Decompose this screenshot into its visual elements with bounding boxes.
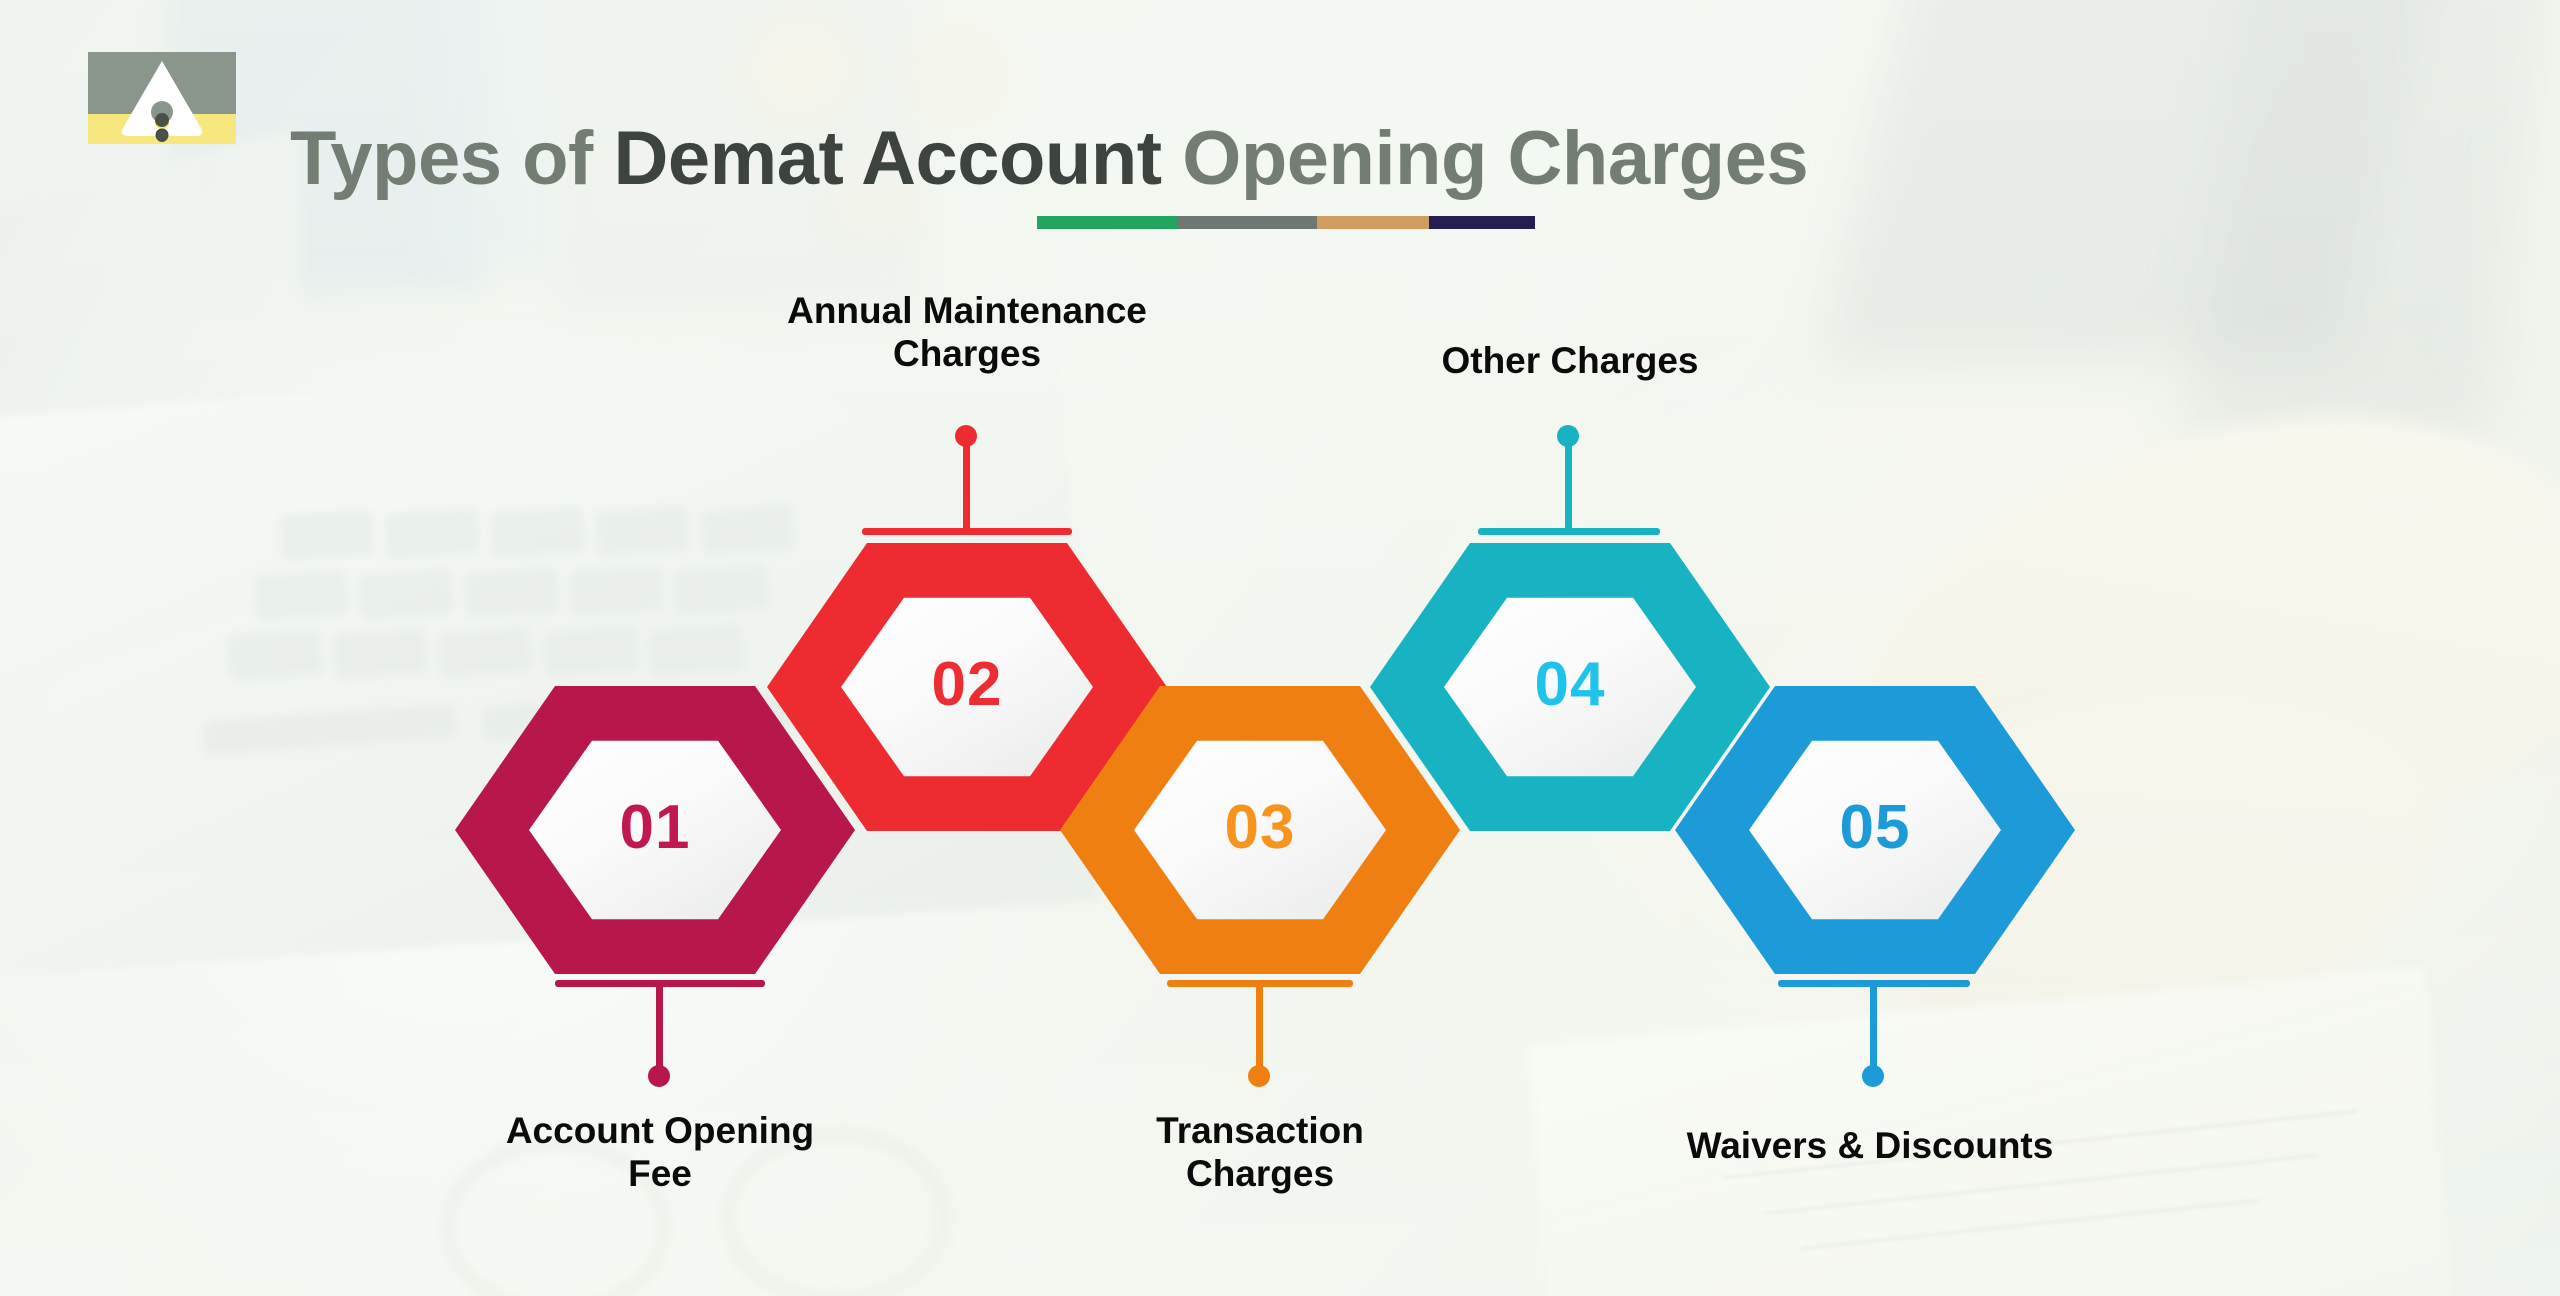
- connector-step-2: [862, 420, 1072, 535]
- connector-dot-3: [1248, 1065, 1270, 1087]
- connector-stem-3: [1256, 980, 1263, 1073]
- process-diagram: 01 Account Opening Fee 02 Annual Mainten…: [0, 0, 2560, 1296]
- connector-dot-4: [1557, 425, 1579, 447]
- label-step-4-line1: Other Charges: [1320, 340, 1820, 383]
- connector-stem-2: [963, 436, 970, 532]
- label-step-4: Other Charges: [1320, 340, 1820, 383]
- connector-step-1: [555, 980, 765, 1095]
- label-step-3-line1: Transaction: [1020, 1110, 1500, 1153]
- hexagon-step-5[interactable]: 05: [1675, 680, 2075, 980]
- label-step-3: Transaction Charges: [1020, 1110, 1500, 1196]
- label-step-1-line2: Fee: [420, 1153, 900, 1196]
- connector-stem-1: [656, 980, 663, 1073]
- hexagon-number-3: 03: [1225, 797, 1296, 859]
- connector-step-4: [1478, 420, 1660, 535]
- hexagon-number-4: 04: [1535, 654, 1606, 716]
- label-step-2-line1: Annual Maintenance: [667, 290, 1267, 333]
- connector-stem-5: [1870, 980, 1877, 1073]
- connector-dot-5: [1862, 1065, 1884, 1087]
- label-step-2-line2: Charges: [667, 333, 1267, 376]
- hexagon-number-2: 02: [932, 654, 1003, 716]
- connector-step-5: [1778, 980, 1970, 1095]
- label-step-2: Annual Maintenance Charges: [667, 290, 1267, 376]
- connector-dot-1: [648, 1065, 670, 1087]
- label-step-5: Waivers & Discounts: [1600, 1125, 2140, 1168]
- connector-stem-4: [1565, 436, 1572, 532]
- connector-step-3: [1167, 980, 1353, 1095]
- label-step-1-line1: Account Opening: [420, 1110, 900, 1153]
- label-step-1: Account Opening Fee: [420, 1110, 900, 1196]
- connector-dot-2: [955, 425, 977, 447]
- hexagon-number-5: 05: [1840, 797, 1911, 859]
- label-step-5-line1: Waivers & Discounts: [1600, 1125, 2140, 1168]
- hexagon-number-1: 01: [620, 797, 691, 859]
- label-step-3-line2: Charges: [1020, 1153, 1500, 1196]
